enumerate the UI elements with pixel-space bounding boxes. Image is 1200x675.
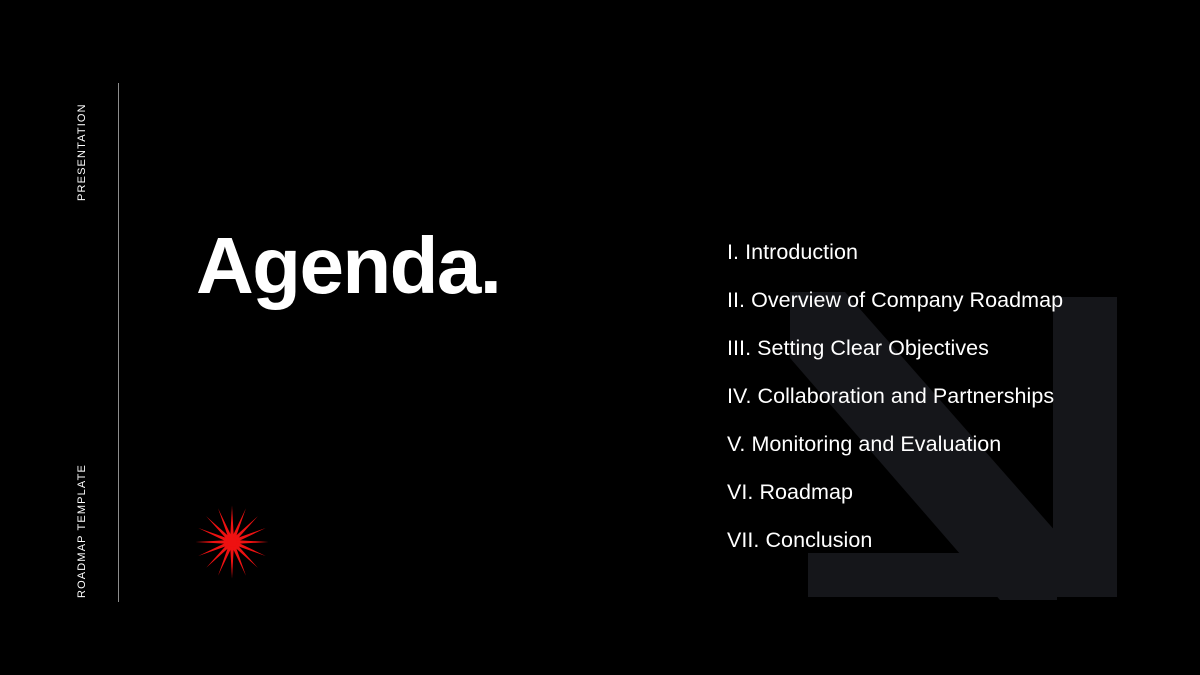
- list-item: VI. Roadmap: [727, 478, 1063, 526]
- list-item: IV. Collaboration and Partnerships: [727, 382, 1063, 430]
- rail-divider: [118, 83, 119, 602]
- rail-label-roadmap-template: ROADMAP TEMPLATE: [76, 464, 88, 598]
- agenda-slide: PRESENTATION ROADMAP TEMPLATE Agenda. I.…: [0, 0, 1200, 675]
- list-item: II. Overview of Company Roadmap: [727, 286, 1063, 334]
- left-rail: PRESENTATION ROADMAP TEMPLATE: [0, 0, 120, 675]
- agenda-list: I. Introduction II. Overview of Company …: [727, 238, 1063, 574]
- list-item: III. Setting Clear Objectives: [727, 334, 1063, 382]
- list-item: VII. Conclusion: [727, 526, 1063, 574]
- rail-label-presentation: PRESENTATION: [76, 103, 88, 201]
- list-item: I. Introduction: [727, 238, 1063, 286]
- page-title: Agenda.: [196, 226, 500, 306]
- title-block: Agenda.: [196, 226, 500, 306]
- list-item: V. Monitoring and Evaluation: [727, 430, 1063, 478]
- starburst-icon: [194, 504, 270, 580]
